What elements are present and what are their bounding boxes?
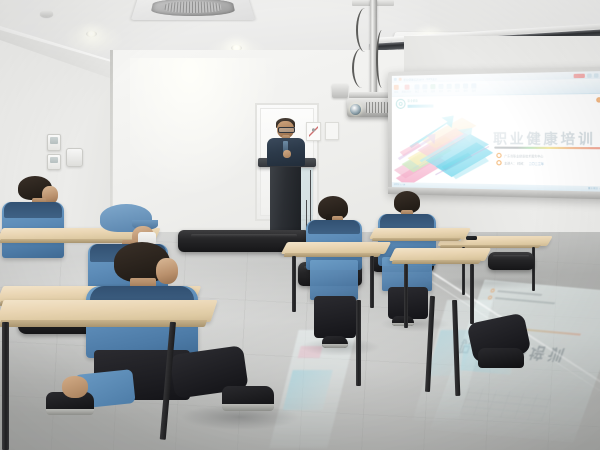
titlebar-icon [399, 78, 402, 81]
logo-bar [408, 104, 434, 107]
minimize-button[interactable] [587, 73, 592, 77]
login-button[interactable] [574, 73, 585, 78]
find-icon [463, 83, 468, 88]
ribbon-group[interactable]: 粘贴 [394, 85, 399, 94]
desk [0, 300, 216, 450]
slide-bullet-date: 二〇二三年 [529, 161, 544, 165]
shoe-sole [322, 344, 348, 348]
projector-vent [366, 102, 388, 113]
reflection-artwork [298, 346, 323, 358]
desk-leg [404, 264, 408, 328]
no-smoking-icon [309, 125, 318, 138]
reflection-artwork [283, 370, 333, 410]
shoe-sole [222, 404, 274, 411]
ribbon-group[interactable]: 填充 [455, 84, 460, 93]
arrange-icon [447, 84, 452, 89]
chair-backrest [488, 252, 534, 270]
ribbon-group[interactable]: 新建幻灯片 [402, 85, 412, 94]
projected-slide: 职业健康培训.pptx - WPS演示 粘贴 新建幻灯片 版式 [392, 71, 600, 192]
projector-cable [376, 30, 388, 88]
org-logo-icon [396, 99, 406, 109]
wall-notice [325, 122, 339, 140]
ac-control-panel[interactable] [47, 134, 61, 151]
ribbon-label: 新建幻灯片 [402, 91, 412, 94]
desk-top [0, 300, 218, 322]
select-icon [471, 83, 476, 88]
slide-accent-dot [596, 97, 600, 102]
ppt-file-label: 职业健康培训.pptx - WPS演示 [404, 76, 438, 81]
panel-display [50, 137, 59, 143]
ribbon-label: 段落 [431, 90, 435, 93]
slide-bullet: 主讲人： 时间： 二〇二三年 [496, 160, 544, 166]
ribbon-label: 排列 [447, 90, 451, 93]
ribbon-label: 查找 [463, 90, 467, 93]
ac-control-panel[interactable] [47, 154, 61, 170]
org-name: 职业健康 [408, 100, 434, 104]
projector-cable [352, 48, 372, 88]
ribbon-label: 版式 [415, 90, 419, 93]
desk [392, 248, 488, 328]
desk-edge [283, 253, 381, 257]
projector-lens [350, 104, 361, 115]
titlebar-icon [394, 78, 397, 81]
presenter-hand [283, 150, 291, 158]
font-icon [422, 84, 427, 89]
projector-junction-box [332, 84, 348, 98]
ribbon-group[interactable]: 查找 [463, 83, 468, 92]
desk-edge [0, 320, 207, 327]
ppt-ribbon[interactable]: 粘贴 新建幻灯片 版式 字体 段落 [392, 79, 600, 97]
ac-grill [164, 1, 222, 13]
slide-subtitle-block: 广东省职业健康技术服务中心 主讲人： 时间： 二〇二三年 [496, 153, 544, 166]
attendee-shoe [478, 348, 524, 368]
desk-leg [292, 256, 296, 312]
desk-leg [470, 264, 474, 324]
classroom-photo: 职业健康培训.pptx - WPS演示 粘贴 新建幻灯片 版式 [0, 0, 600, 450]
status-bar-tools: 备注 批注 [588, 187, 598, 190]
ribbon-label: 形状 [439, 90, 443, 93]
ribbon-label: 选择 [472, 90, 476, 93]
paragraph-icon [430, 84, 435, 89]
ceiling-ac-cassette [131, 0, 255, 20]
reflection-line [495, 297, 556, 304]
maximize-button[interactable] [594, 73, 599, 77]
slide-title: 职业健康培训 [493, 128, 596, 149]
ribbon-group[interactable]: 段落 [430, 84, 435, 93]
chair [488, 252, 534, 282]
ribbon-group[interactable]: 字体 [422, 84, 427, 93]
slide-org-logo: 职业健康 [396, 98, 434, 109]
slide-bullet: 广东省职业健康技术服务中心 [496, 153, 544, 159]
status-bar-right[interactable]: 备注 批注 100% [588, 187, 600, 191]
presenter [262, 118, 310, 170]
slide-bullet-text: 主讲人： 时间： [504, 161, 526, 165]
projector-cable [356, 8, 374, 52]
projection-screen: 职业健康培训.pptx - WPS演示 粘贴 新建幻灯片 版式 [388, 66, 600, 199]
shape-icon [439, 84, 444, 89]
slide-bullet-text: 广东省职业健康技术服务中心 [504, 153, 543, 158]
ribbon-group[interactable]: 版式 [414, 84, 419, 93]
glasses-icon [278, 127, 295, 133]
ribbon-label: 填充 [455, 90, 459, 93]
reflection-grid [460, 388, 553, 422]
desk-leg [2, 322, 9, 450]
desk-edge [371, 238, 461, 241]
slide-counter: 幻灯片 1 / 28 [394, 183, 405, 186]
attendee-ear [156, 258, 178, 284]
ribbon-group[interactable]: 形状 [439, 84, 444, 93]
desk-leg [356, 300, 361, 386]
fill-icon [455, 84, 460, 89]
bullet-dot-icon [496, 160, 501, 165]
downlight [86, 31, 97, 37]
uniform-shoulder-yoke [380, 214, 434, 229]
bullet-dot-icon [496, 153, 501, 158]
uniform-shoulder-yoke [308, 220, 360, 234]
new-slide-icon [404, 85, 409, 90]
ribbon-group[interactable]: 选择 [471, 83, 476, 92]
ribbon-group[interactable]: 排列 [447, 84, 452, 93]
ribbon-label: 粘贴 [394, 91, 398, 94]
panel-display [50, 157, 59, 163]
uniform-shoulder-yoke [4, 202, 62, 218]
desk [284, 242, 388, 312]
ribbon-label: 字体 [423, 90, 427, 93]
layout-icon [414, 84, 419, 89]
smoke-detector [40, 10, 53, 17]
paste-icon [394, 85, 399, 90]
wall-thermostat[interactable] [66, 148, 83, 167]
desk-leg [370, 256, 374, 308]
